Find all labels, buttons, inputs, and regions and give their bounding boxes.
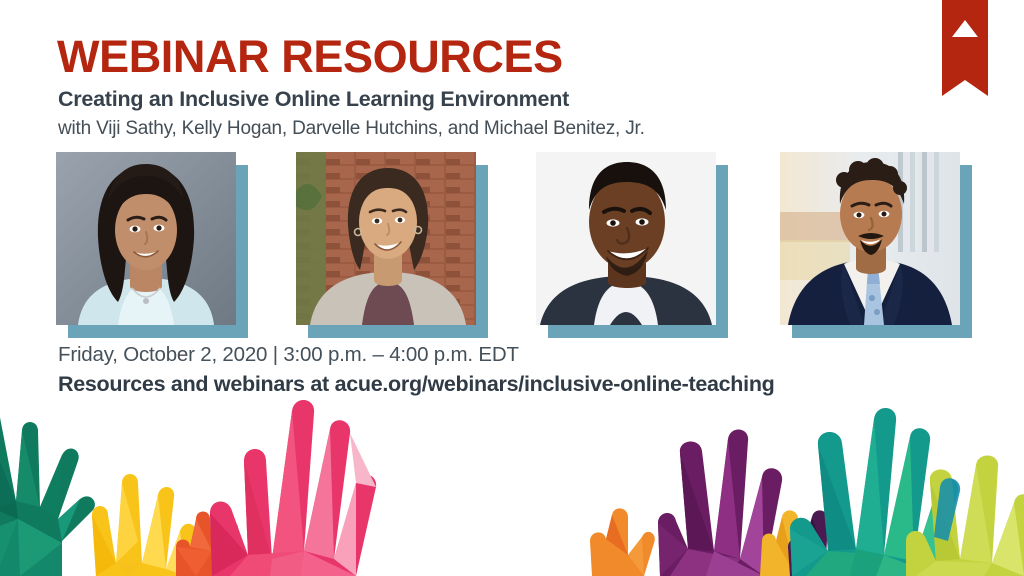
headshot-viji-sathy	[56, 152, 236, 325]
photo-frame	[780, 152, 960, 325]
headshot-darvelle-hutchins	[536, 152, 716, 325]
photo-frame	[536, 152, 716, 325]
dateline: Friday, October 2, 2020 | 3:00 p.m. – 4:…	[58, 342, 519, 368]
raised-hands-illustration	[0, 391, 1024, 576]
headshot-kelly-hogan	[296, 152, 476, 325]
headshot-row	[0, 0, 1024, 340]
headshot-michael-benitez-jr	[780, 152, 960, 325]
webinar-slide: WEBINAR RESOURCES Creating an Inclusive …	[0, 0, 1024, 576]
photo-frame	[296, 152, 476, 325]
photo-frame	[56, 152, 236, 325]
